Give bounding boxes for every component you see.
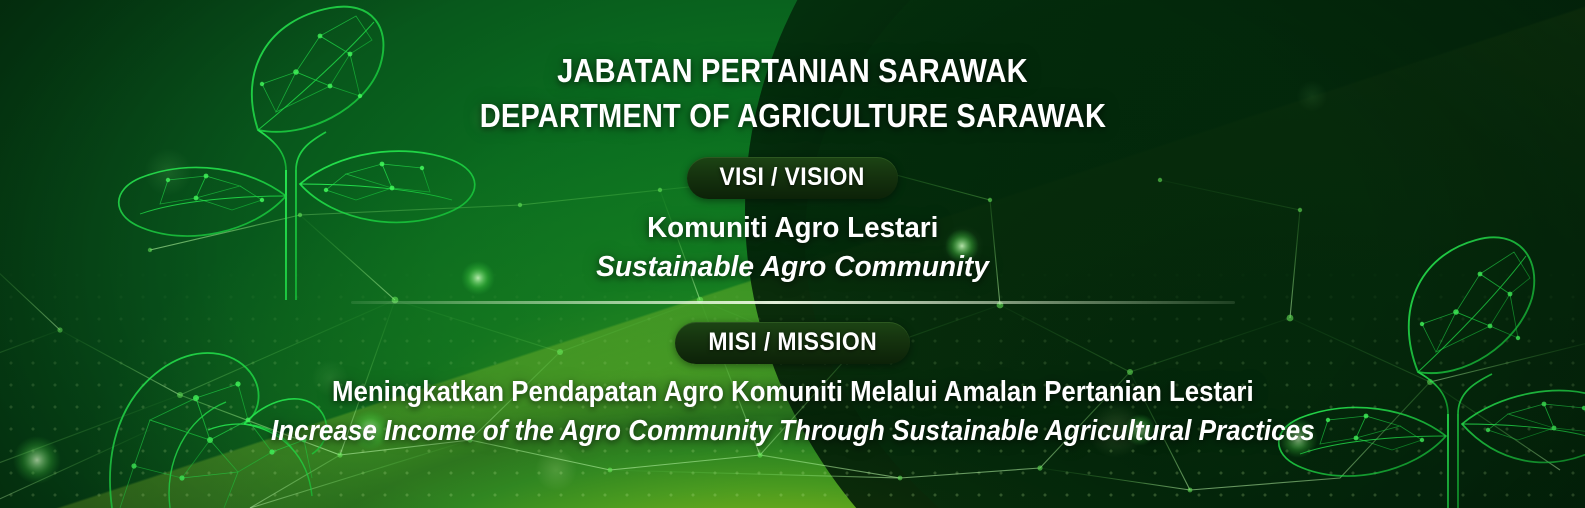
org-name-native: JABATAN PERTANIAN SARAWAK [557, 52, 1028, 90]
vision-statement-native: Komuniti Agro Lestari [647, 211, 938, 245]
vision-badge: VISI / VISION [687, 157, 897, 199]
mission-statement-english: Increase Income of the Agro Community Th… [271, 414, 1315, 448]
org-name-english: DEPARTMENT OF AGRICULTURE SARAWAK [479, 97, 1105, 135]
vision-mission-banner: JABATAN PERTANIAN SARAWAK DEPARTMENT OF … [0, 0, 1585, 508]
vision-statement-english: Sustainable Agro Community [596, 250, 989, 284]
section-divider [351, 301, 1235, 304]
banner-content: JABATAN PERTANIAN SARAWAK DEPARTMENT OF … [0, 0, 1585, 508]
vision-badge-label: VISI / VISION [720, 164, 865, 191]
mission-badge: MISI / MISSION [675, 322, 910, 364]
mission-badge-label: MISI / MISSION [708, 329, 877, 356]
mission-statement-native: Meningkatkan Pendapatan Agro Komuniti Me… [332, 375, 1254, 409]
